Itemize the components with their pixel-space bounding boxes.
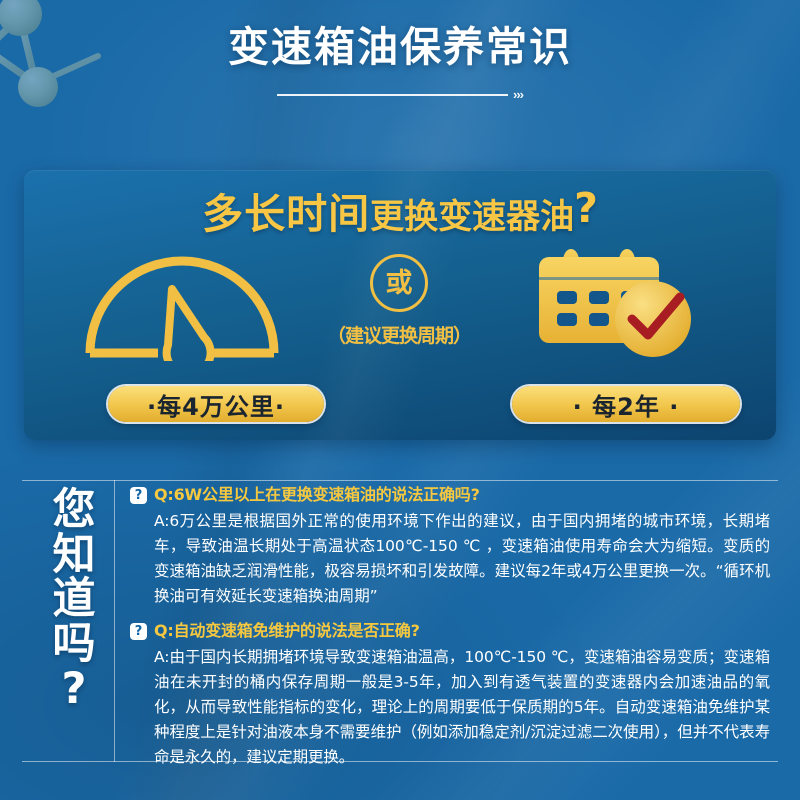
qa-answer: A:由于国内长期拥堵环境导致变速箱油温高，100℃-150 ℃，变速箱油容易变质… (154, 645, 770, 771)
qa-question-row: ? Q:自动变速箱免维护的说法是否正确? (130, 620, 770, 642)
header: 变速箱油保养常识 ››› (0, 24, 800, 101)
know-char-4: ? (48, 667, 100, 712)
interval-card: 多长时间更换变速器油? 或 （建议更 (24, 170, 776, 440)
qa-question: Q:自动变速箱免维护的说法是否正确? (154, 620, 420, 642)
know-char-0: 您 (48, 488, 100, 533)
pill-mileage[interactable]: ·每4万公里· (108, 386, 324, 422)
page-title: 变速箱油保养常识 (0, 24, 800, 71)
did-you-know-section: 您 知 道 吗 ? ? Q:6W公里以上在更换变速箱油的说法正确吗? A:6万公… (22, 470, 778, 780)
gauge-wrap (52, 248, 312, 366)
calendar-check-icon (529, 249, 705, 365)
pill-time[interactable]: · 每2年 · (512, 386, 740, 422)
card-heading: 多长时间更换变速器油? (24, 188, 776, 235)
card-heading-big: 多长时间 (202, 190, 370, 238)
question-badge-icon: ? (130, 623, 147, 640)
or-option: 或 （建议更换周期） (314, 248, 484, 348)
poster-background: 变速箱油保养常识 ››› 多长时间更换变速器油? (0, 0, 800, 800)
icon-row: 或 （建议更换周期） (24, 248, 776, 368)
know-char-1: 知 (48, 533, 100, 578)
section-rule-top (22, 480, 778, 481)
or-note: （建议更换周期） (314, 321, 484, 348)
section-vertical-divider (114, 480, 115, 762)
question-badge-icon: ? (130, 487, 147, 504)
mileage-option (52, 248, 312, 366)
qa-answer: A:6万公里是根据国外正常的使用环境下作出的建议，由于国内拥堵的城市环境，长期堵… (154, 509, 770, 609)
time-option (486, 248, 748, 366)
or-circle: 或 (370, 254, 428, 312)
know-char-3: 吗 (48, 622, 100, 667)
qa-list: ? Q:6W公里以上在更换变速箱油的说法正确吗? A:6万公里是根据国外正常的使… (130, 484, 770, 770)
qa-question: Q:6W公里以上在更换变速箱油的说法正确吗? (154, 484, 480, 506)
qa-question-row: ? Q:6W公里以上在更换变速箱油的说法正确吗? (130, 484, 770, 506)
card-heading-small: 更换变速器油 (370, 197, 574, 237)
qa-block: ? Q:自动变速箱免维护的说法是否正确? A:由于国内长期拥堵环境导致变速箱油温… (130, 620, 770, 770)
card-heading-question-mark: ? (574, 184, 598, 232)
title-rule: ››› (277, 88, 523, 101)
did-you-know-label: 您 知 道 吗 ? (48, 488, 100, 712)
qa-block: ? Q:6W公里以上在更换变速箱油的说法正确吗? A:6万公里是根据国外正常的使… (130, 484, 770, 609)
title-rule-bar (277, 94, 508, 96)
chevron-right-icon: ››› (513, 88, 523, 101)
gauge-icon (84, 253, 280, 361)
calendar-wrap (486, 248, 748, 366)
know-char-2: 道 (48, 577, 100, 622)
